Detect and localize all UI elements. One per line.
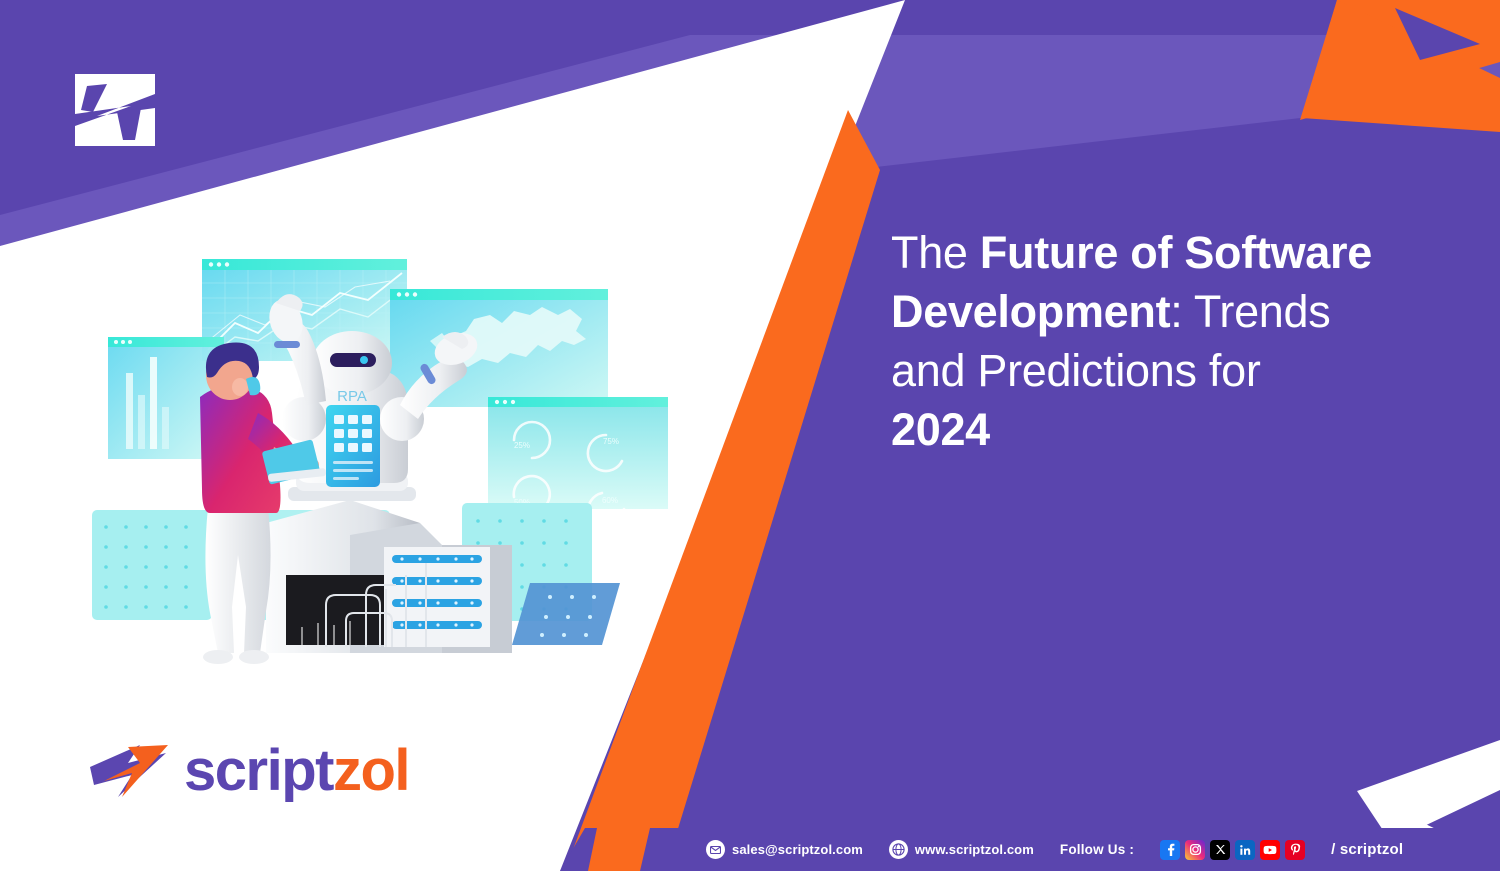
x-twitter-icon[interactable] xyxy=(1210,840,1230,860)
footer-bar: sales@scriptzol.com www.scriptzol.com Fo… xyxy=(0,828,1500,871)
svg-text:60%: 60% xyxy=(602,496,618,505)
svg-text:75%: 75% xyxy=(603,437,619,446)
email-text: sales@scriptzol.com xyxy=(732,842,863,857)
brand-word-script: script xyxy=(184,738,333,803)
brand-wordmark: scriptzol xyxy=(184,742,409,800)
lightning-z-logo-icon xyxy=(73,64,157,156)
svg-text:25%: 25% xyxy=(514,441,530,450)
social-links xyxy=(1160,840,1305,860)
envelope-icon xyxy=(706,840,725,859)
contact-website[interactable]: www.scriptzol.com xyxy=(889,840,1034,859)
headline-line2-plain: : Trends xyxy=(1170,286,1330,337)
rpa-illustration: 25% 75% 50% 60% xyxy=(90,245,730,670)
contact-email[interactable]: sales@scriptzol.com xyxy=(706,840,863,859)
follow-us-label: Follow Us : xyxy=(1060,842,1134,857)
headline-line1-plain: The xyxy=(891,227,980,278)
blue-parallelogram xyxy=(512,583,620,645)
youtube-icon[interactable] xyxy=(1260,840,1280,860)
headline-line2-bold: Development xyxy=(891,286,1170,337)
robot-rpa-label: RPA xyxy=(337,388,367,405)
headline-line1-bold: Future of Software xyxy=(980,227,1372,278)
banner-stage: 25% 75% 50% 60% xyxy=(0,0,1500,871)
page-title: The Future of Software Development: Tren… xyxy=(891,223,1471,459)
brand-word-zol: zol xyxy=(333,738,409,803)
facebook-icon[interactable] xyxy=(1160,840,1180,860)
instagram-icon[interactable] xyxy=(1185,840,1205,860)
lightning-arrow-logo-icon xyxy=(88,739,172,803)
pinterest-icon[interactable] xyxy=(1285,840,1305,860)
brand-logo: scriptzol xyxy=(88,735,428,807)
linkedin-icon[interactable] xyxy=(1235,840,1255,860)
globe-icon xyxy=(889,840,908,859)
headline-line3-plain: and Predictions for xyxy=(891,345,1261,396)
headline-year: 2024 xyxy=(891,404,990,455)
website-text: www.scriptzol.com xyxy=(915,842,1034,857)
social-handle: / scriptzol xyxy=(1331,841,1403,858)
